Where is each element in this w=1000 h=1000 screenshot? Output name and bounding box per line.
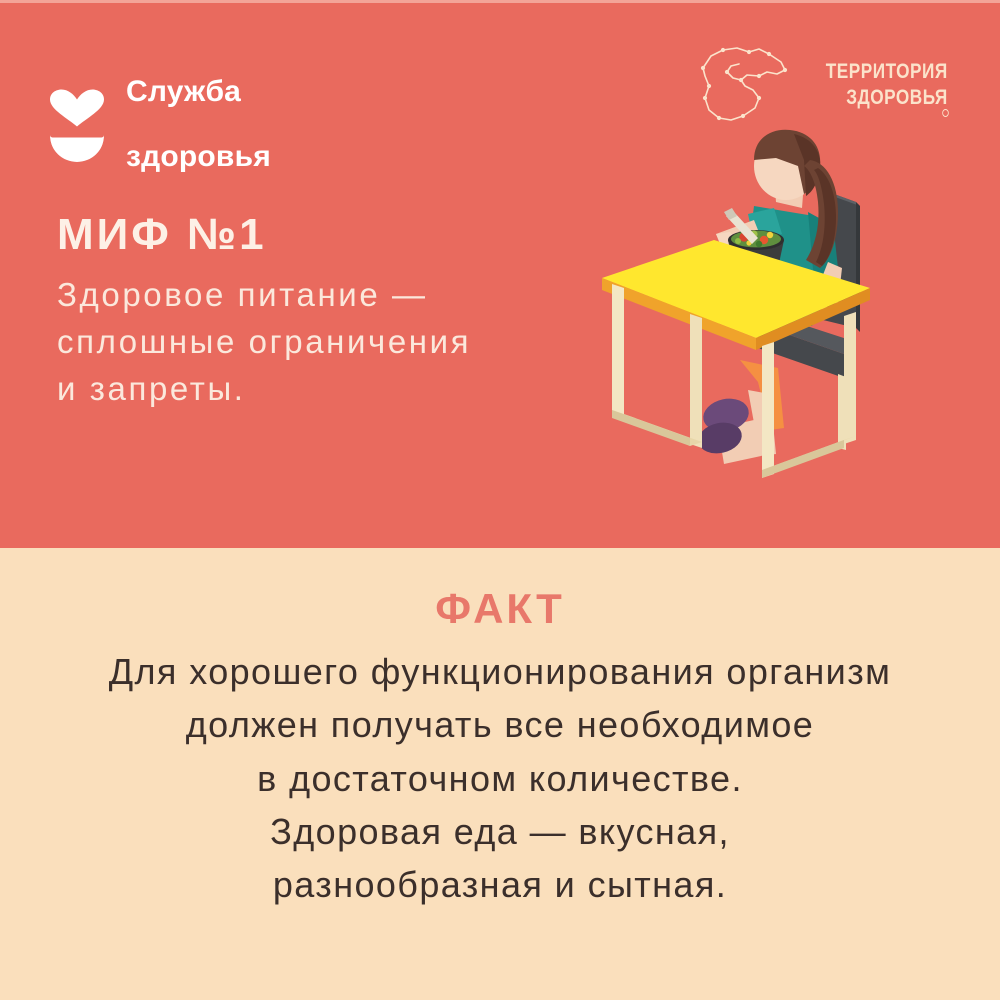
myth-label: МИФ №1 — [57, 212, 577, 258]
myth-panel: Служба здоровья — [0, 0, 1000, 548]
map-outline-icon — [697, 42, 789, 128]
fact-title: ФАКТ — [0, 585, 1000, 633]
territory-logo: ТЕРРИТОРИЯ ЗДОРОВЬЯ — [697, 42, 948, 128]
brand-logo: Служба здоровья — [46, 44, 271, 206]
woman-eating-salad-illustration — [598, 128, 888, 498]
myth-copy: МИФ №1 Здоровое питание — сплошные огран… — [57, 212, 577, 413]
territory-line-2: ЗДОРОВЬЯ — [826, 85, 948, 111]
heart-smile-icon — [46, 88, 108, 162]
brand-line-1: Служба — [126, 76, 271, 108]
myth-statement: Здоровое питание — сплошные ограничения … — [57, 272, 577, 413]
brand-name: Служба здоровья — [126, 44, 271, 206]
brand-line-2: здоровья — [126, 141, 271, 173]
infographic-poster: Служба здоровья — [0, 0, 1000, 1000]
territory-name: ТЕРРИТОРИЯ ЗДОРОВЬЯ — [826, 59, 948, 110]
territory-line-1: ТЕРРИТОРИЯ — [826, 59, 948, 85]
fact-text: Для хорошего функционирования организм д… — [50, 645, 950, 911]
